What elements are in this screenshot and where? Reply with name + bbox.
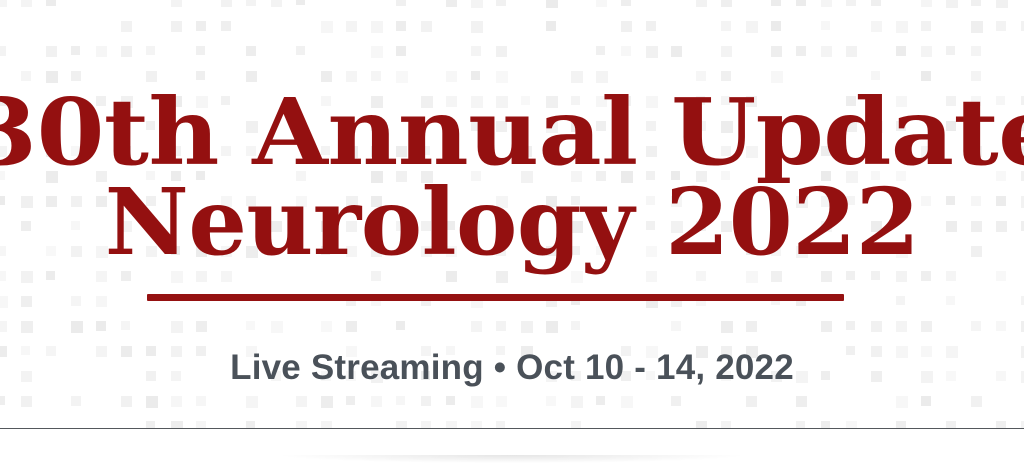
banner-subtitle: Live Streaming • Oct 10 - 14, 2022 xyxy=(0,348,1024,388)
banner-headline-line-1: 30th Annual Update xyxy=(0,86,1024,178)
footer-shadow xyxy=(282,455,742,463)
title-divider-rule xyxy=(147,294,844,301)
event-banner: 30th Annual Update Neurology 2022 Live S… xyxy=(0,0,1024,463)
banner-content: 30th Annual Update Neurology 2022 Live S… xyxy=(0,0,1024,429)
banner-headline-line-2: Neurology 2022 xyxy=(0,176,1024,268)
